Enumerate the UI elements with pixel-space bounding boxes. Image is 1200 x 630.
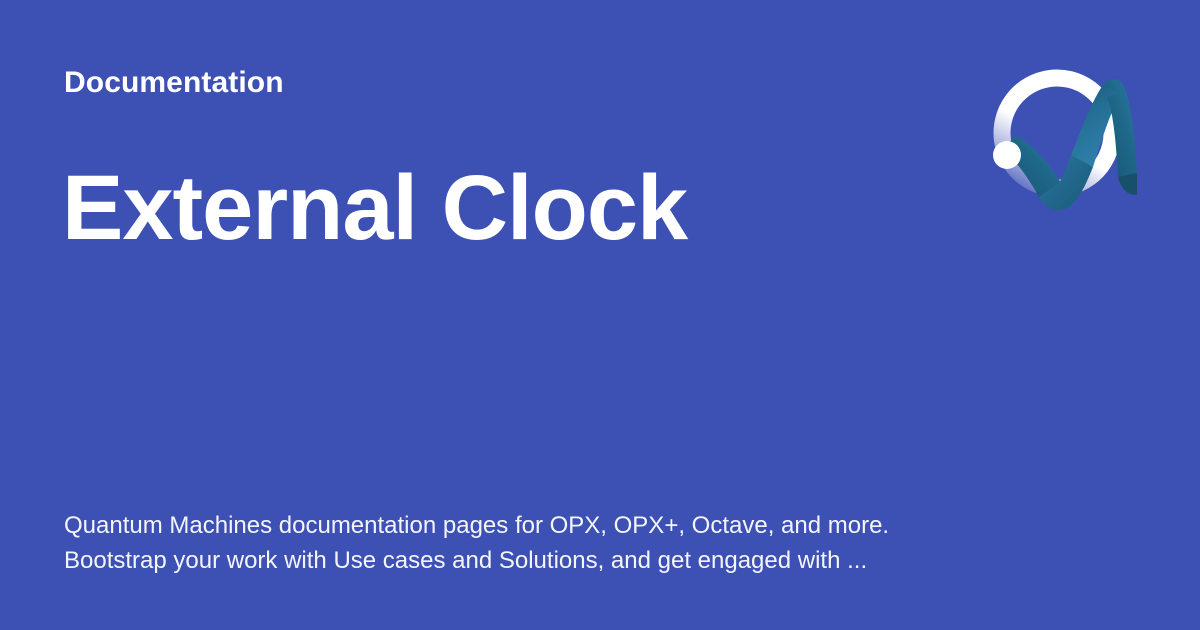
quantum-machines-logo — [985, 55, 1145, 215]
page-title: External Clock — [62, 156, 687, 260]
og-card: Documentation External Clock Quantum Mac… — [0, 0, 1200, 630]
logo-dot-shape — [993, 141, 1021, 169]
page-description: Quantum Machines documentation pages for… — [64, 508, 944, 578]
breadcrumb-documentation: Documentation — [64, 64, 284, 102]
description-line-2: Bootstrap your work with Use cases and S… — [64, 543, 944, 578]
description-line-1: Quantum Machines documentation pages for… — [64, 508, 944, 543]
